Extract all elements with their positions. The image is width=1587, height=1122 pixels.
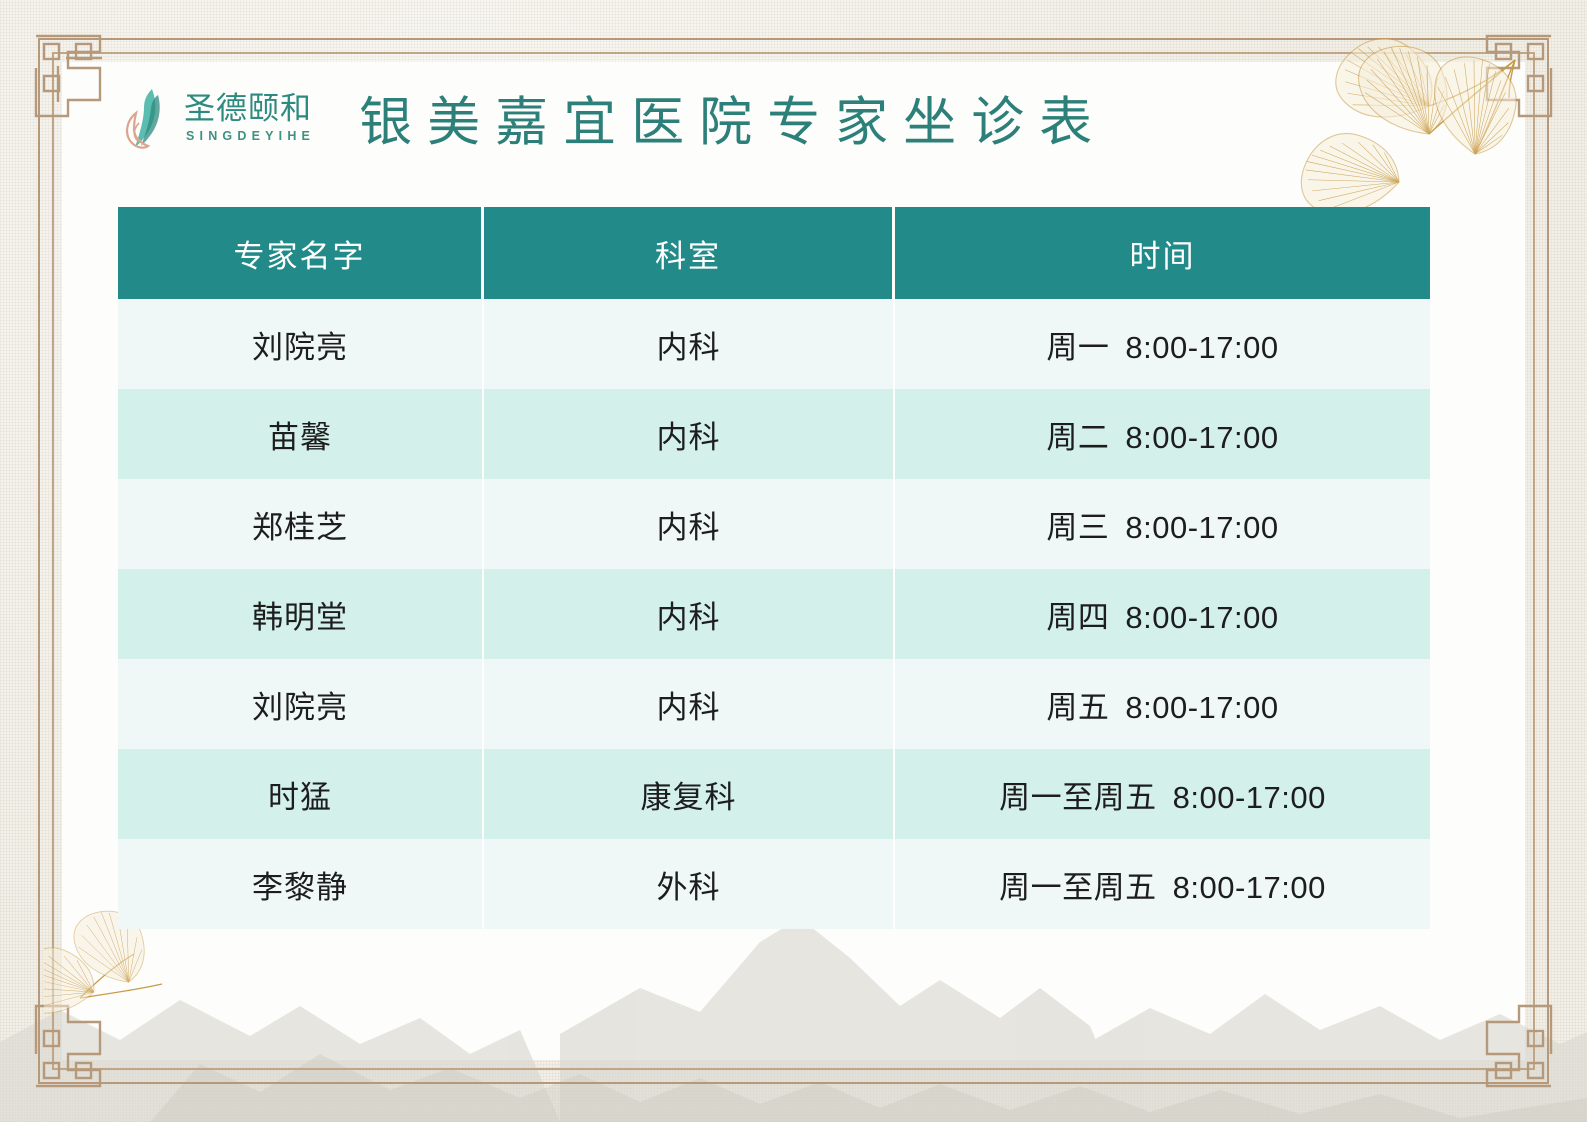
time-hours: 8:00-17:00 [1173, 780, 1326, 815]
cell-expert-name: 刘院亮 [118, 299, 484, 389]
time-hours: 8:00-17:00 [1125, 690, 1278, 725]
cell-time: 周三8:00-17:00 [895, 479, 1430, 569]
cell-expert-name: 李黎静 [118, 839, 484, 929]
cell-time: 周一8:00-17:00 [895, 299, 1430, 389]
poster-header: 圣德颐和 SINGDEYIHE 银美嘉宜医院专家坐诊表 [118, 80, 1107, 156]
cell-department: 康复科 [484, 749, 895, 839]
time-hours: 8:00-17:00 [1173, 870, 1326, 905]
cell-expert-name: 时猛 [118, 749, 484, 839]
table-row: 郑桂芝内科周三8:00-17:00 [118, 479, 1430, 569]
brand-name-en: SINGDEYIHE [181, 129, 315, 143]
cell-expert-name: 韩明堂 [118, 569, 484, 659]
cell-expert-name: 郑桂芝 [118, 479, 484, 569]
time-day: 周一 [1046, 330, 1109, 365]
column-header-time: 时间 [895, 207, 1430, 299]
cell-department: 内科 [484, 299, 895, 389]
poster-canvas: 圣德颐和 SINGDEYIHE 银美嘉宜医院专家坐诊表 专家名字 科室 时间 刘… [0, 0, 1587, 1122]
brand-wordmark: 圣德颐和 SINGDEYIHE [181, 93, 315, 143]
cell-expert-name: 刘院亮 [118, 659, 484, 749]
header-row: 专家名字 科室 时间 [118, 207, 1430, 299]
cell-time: 周二8:00-17:00 [895, 389, 1430, 479]
flame-leaf-logo-icon [118, 83, 174, 153]
cell-time: 周一至周五8:00-17:00 [895, 749, 1430, 839]
cell-time: 周五8:00-17:00 [895, 659, 1430, 749]
column-header-name: 专家名字 [118, 207, 484, 299]
cell-department: 内科 [484, 659, 895, 749]
time-day: 周五 [1046, 690, 1109, 725]
table-row: 韩明堂内科周四8:00-17:00 [118, 569, 1430, 659]
column-header-department: 科室 [484, 207, 895, 299]
cell-time: 周一至周五8:00-17:00 [895, 839, 1430, 929]
time-day: 周三 [1046, 510, 1109, 545]
cell-department: 内科 [484, 569, 895, 659]
time-hours: 8:00-17:00 [1125, 600, 1278, 635]
brand-logo: 圣德颐和 SINGDEYIHE [118, 83, 315, 153]
table-header: 专家名字 科室 时间 [118, 207, 1430, 299]
page-title: 银美嘉宜医院专家坐诊表 [359, 80, 1107, 156]
cell-expert-name: 苗馨 [118, 389, 484, 479]
cell-department: 外科 [484, 839, 895, 929]
time-hours: 8:00-17:00 [1125, 420, 1278, 455]
time-hours: 8:00-17:00 [1125, 330, 1278, 365]
time-day: 周一至周五 [999, 780, 1157, 815]
time-day: 周一至周五 [999, 870, 1157, 905]
table-row: 苗馨内科周二8:00-17:00 [118, 389, 1430, 479]
cell-department: 内科 [484, 389, 895, 479]
table-row: 时猛康复科周一至周五8:00-17:00 [118, 749, 1430, 839]
time-day: 周四 [1046, 600, 1109, 635]
table-row: 李黎静外科周一至周五8:00-17:00 [118, 839, 1430, 929]
table-body: 刘院亮内科周一8:00-17:00苗馨内科周二8:00-17:00郑桂芝内科周三… [118, 299, 1430, 929]
cell-department: 内科 [484, 479, 895, 569]
expert-schedule-table: 专家名字 科室 时间 刘院亮内科周一8:00-17:00苗馨内科周二8:00-1… [118, 207, 1430, 929]
cell-time: 周四8:00-17:00 [895, 569, 1430, 659]
time-hours: 8:00-17:00 [1125, 510, 1278, 545]
time-day: 周二 [1046, 420, 1109, 455]
brand-name-cn: 圣德颐和 [184, 93, 312, 126]
table-row: 刘院亮内科周一8:00-17:00 [118, 299, 1430, 389]
table-row: 刘院亮内科周五8:00-17:00 [118, 659, 1430, 749]
